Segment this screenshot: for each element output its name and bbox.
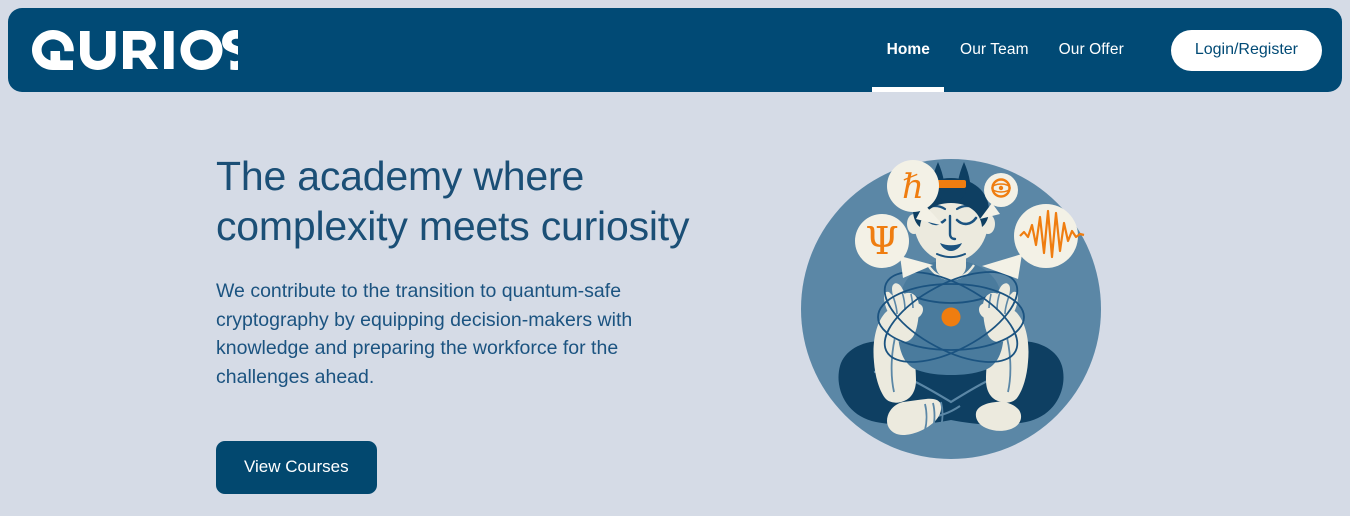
login-register-button[interactable]: Login/Register (1171, 30, 1322, 71)
brand-logo[interactable] (30, 28, 238, 72)
nav-item-our-offer[interactable]: Our Offer (1044, 8, 1139, 92)
nav-item-our-team-label: Our Team (960, 41, 1029, 59)
nav-item-our-team[interactable]: Our Team (945, 8, 1044, 92)
view-courses-button[interactable]: View Courses (216, 441, 377, 494)
qurios-logo-icon (32, 30, 238, 70)
svg-text:ℏ: ℏ (902, 167, 924, 207)
atom-nucleus (942, 308, 961, 327)
meditating-figure-quantum-icon: ℏ Ψ (800, 144, 1102, 474)
site-header: Home Our Team Our Offer Login/Register (8, 8, 1342, 92)
svg-text:Ψ: Ψ (865, 219, 898, 263)
hero-section: The academy where complexity meets curio… (0, 92, 1350, 516)
hair-band (936, 180, 966, 188)
nav-item-our-offer-label: Our Offer (1059, 41, 1124, 59)
main-navigation: Home Our Team Our Offer Login/Register (872, 8, 1322, 92)
page-title: The academy where complexity meets curio… (216, 152, 761, 251)
hero-description: We contribute to the transition to quant… (216, 277, 676, 391)
hero-copy-block: The academy where complexity meets curio… (216, 152, 776, 494)
nav-item-home-label: Home (887, 41, 930, 59)
hero-illustration: ℏ Ψ (800, 144, 1102, 474)
nav-item-home[interactable]: Home (872, 8, 945, 92)
